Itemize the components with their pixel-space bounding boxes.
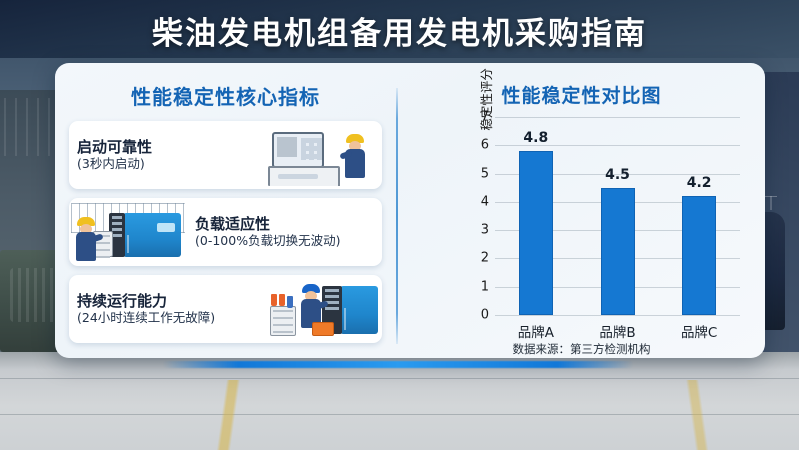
feature-card-title: 启动可靠性 — [77, 138, 256, 157]
feature-card-subtitle: (0-100%负载切换无波动) — [195, 233, 374, 249]
feature-card-startup-reliability[interactable]: 启动可靠性 (3秒内启动) — [69, 121, 382, 189]
chart-source-note: 数据来源：第三方检测机构 — [398, 341, 765, 357]
chart-x-tick-label: 品牌A — [518, 321, 554, 341]
chart-bar-value-label: 4.5 — [605, 167, 630, 183]
feature-card-subtitle: (3秒内启动) — [77, 156, 256, 172]
feature-card-title: 持续运行能力 — [77, 292, 256, 311]
chart-x-tick-label: 品牌C — [681, 321, 717, 341]
chart-y-tick-label: 4 — [481, 194, 489, 209]
chart-plot-area: 765432104.8品牌A4.5品牌B4.2品牌C — [495, 117, 740, 315]
feature-card-title: 负载适应性 — [195, 215, 374, 234]
feature-card-text: 持续运行能力 (24小时连续工作无故障) — [69, 292, 264, 327]
feature-card-subtitle: (24小时连续工作无故障) — [77, 310, 256, 326]
chart-title: 性能稳定性对比图 — [398, 81, 765, 108]
chart-bar[interactable] — [682, 196, 716, 315]
operator-at-monitor-illustration — [264, 122, 382, 188]
chart-y-tick-label: 6 — [481, 138, 489, 153]
chart-bar[interactable] — [519, 151, 553, 315]
accent-bar — [163, 361, 633, 368]
chart-bar-value-label: 4.2 — [687, 175, 712, 191]
chart-bar-value-label: 4.8 — [523, 130, 548, 146]
operator-at-generator-cabinet-illustration — [69, 199, 187, 265]
bar-chart: 稳定性评分 (1-5分) 765432104.8品牌A4.5品牌B4.2品牌C … — [398, 111, 765, 358]
right-panel: 性能稳定性对比图 稳定性评分 (1-5分) 765432104.8品牌A4.5品… — [398, 63, 765, 358]
chart-y-tick-label: 1 — [481, 279, 489, 294]
technician-with-laptop-illustration — [264, 276, 382, 342]
chart-y-tick-label: 0 — [481, 308, 489, 323]
page-title: 柴油发电机组备用发电机采购指南 — [0, 6, 799, 54]
chart-gridline: 0 — [495, 315, 740, 316]
chart-gridline: 7 — [495, 117, 740, 118]
feature-card-load-adaptability[interactable]: 负载适应性 (0-100%负载切换无波动) — [69, 198, 382, 266]
chart-y-tick-label: 3 — [481, 223, 489, 238]
chart-y-tick-label: 7 — [481, 110, 489, 125]
chart-x-tick-label: 品牌B — [599, 321, 635, 341]
main-content-card: 性能稳定性核心指标 启动可靠性 (3秒内启动) — [55, 63, 765, 358]
chart-y-tick-label: 5 — [481, 166, 489, 181]
left-panel-heading: 性能稳定性核心指标 — [69, 81, 382, 110]
feature-card-text: 启动可靠性 (3秒内启动) — [69, 138, 264, 173]
left-panel: 性能稳定性核心指标 启动可靠性 (3秒内启动) — [55, 63, 396, 358]
feature-card-text: 负载适应性 (0-100%负载切换无波动) — [187, 215, 382, 250]
chart-bar[interactable] — [601, 188, 635, 315]
feature-card-continuous-operation[interactable]: 持续运行能力 (24小时连续工作无故障) — [69, 275, 382, 343]
chart-y-tick-label: 2 — [481, 251, 489, 266]
page-title-text: 柴油发电机组备用发电机采购指南 — [152, 8, 647, 53]
